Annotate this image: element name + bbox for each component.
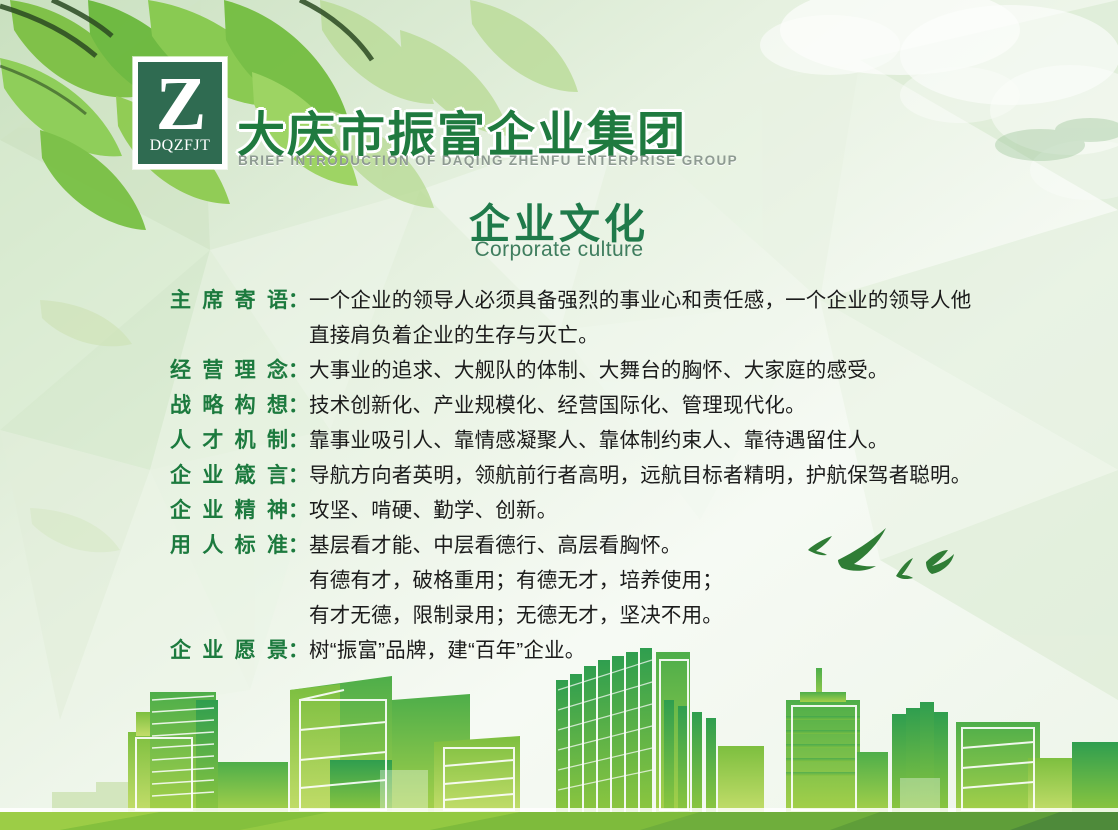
row-colon: ：: [288, 458, 309, 493]
culture-row: 战略构想 ： 技术创新化、产业规模化、经营国际化、管理现代化。: [170, 388, 1030, 423]
culture-row: 人才机制 ： 靠事业吸引人、靠情感凝聚人、靠体制约束人、靠待遇留住人。: [170, 423, 1030, 458]
row-label: 人才机制: [170, 423, 288, 458]
row-colon: ：: [288, 528, 309, 563]
row-line: 有才无德，限制录用；无德无才，坚决不用。: [309, 598, 1030, 633]
row-line: 基层看才能、中层看德行、高层看胸怀。: [309, 528, 1030, 563]
row-label: 企业精神: [170, 493, 288, 528]
row-label: 用人标准: [170, 528, 288, 563]
company-logo: Z DQZFJT: [133, 57, 227, 169]
culture-row: 企业箴言 ： 导航方向者英明，领航前行者高明，远航目标者精明，护航保驾者聪明。: [170, 458, 1030, 493]
row-line: 大事业的追求、大舰队的体制、大舞台的胸怀、大家庭的感受。: [309, 353, 1030, 388]
row-line: 攻坚、啃硬、勤学、创新。: [309, 493, 1030, 528]
culture-row: 企业愿景 ： 树“振富”品牌，建“百年”企业。: [170, 633, 1030, 668]
culture-row: 经营理念 ： 大事业的追求、大舰队的体制、大舞台的胸怀、大家庭的感受。: [170, 353, 1030, 388]
logo-letter-z: Z: [138, 68, 222, 140]
row-body: 靠事业吸引人、靠情感凝聚人、靠体制约束人、靠待遇留住人。: [309, 423, 1030, 458]
row-colon: ：: [288, 388, 309, 423]
logo-acronym: DQZFJT: [150, 137, 211, 164]
row-line: 树“振富”品牌，建“百年”企业。: [309, 633, 1030, 668]
logo-mark: Z DQZFJT: [138, 62, 222, 164]
page-title-en: Corporate culture: [0, 238, 1118, 262]
culture-row: 企业精神 ： 攻坚、啃硬、勤学、创新。: [170, 493, 1030, 528]
row-body: 基层看才能、中层看德行、高层看胸怀。 有德有才，破格重用；有德无才，培养使用； …: [309, 528, 1030, 633]
row-line: 导航方向者英明，领航前行者高明，远航目标者精明，护航保驾者聪明。: [309, 458, 1030, 493]
row-label: 企业箴言: [170, 458, 288, 493]
row-line: 直接肩负着企业的生存与灭亡。: [309, 318, 1030, 353]
row-body: 一个企业的领导人必须具备强烈的事业心和责任感，一个企业的领导人他 直接肩负着企业…: [309, 283, 1030, 353]
ground-band: [0, 812, 1118, 830]
row-colon: ：: [288, 633, 309, 668]
row-body: 大事业的追求、大舰队的体制、大舞台的胸怀、大家庭的感受。: [309, 353, 1030, 388]
culture-content: 主席寄语 ： 一个企业的领导人必须具备强烈的事业心和责任感，一个企业的领导人他 …: [170, 283, 1030, 668]
row-line: 靠事业吸引人、靠情感凝聚人、靠体制约束人、靠待遇留住人。: [309, 423, 1030, 458]
row-label: 主席寄语: [170, 283, 288, 318]
row-line: 技术创新化、产业规模化、经营国际化、管理现代化。: [309, 388, 1030, 423]
row-body: 攻坚、啃硬、勤学、创新。: [309, 493, 1030, 528]
row-body: 导航方向者英明，领航前行者高明，远航目标者精明，护航保驾者聪明。: [309, 458, 1030, 493]
culture-row: 主席寄语 ： 一个企业的领导人必须具备强烈的事业心和责任感，一个企业的领导人他 …: [170, 283, 1030, 353]
poster-header: Z DQZFJT 大庆市振富企业集团 BRIEF INTRODUCTION OF…: [0, 0, 1118, 185]
brand-name-en: BRIEF INTRODUCTION OF DAQING ZHENFU ENTE…: [238, 153, 738, 168]
row-colon: ：: [288, 353, 309, 388]
row-colon: ：: [288, 423, 309, 458]
row-body: 树“振富”品牌，建“百年”企业。: [309, 633, 1030, 668]
poster-canvas: Z DQZFJT 大庆市振富企业集团 BRIEF INTRODUCTION OF…: [0, 0, 1118, 830]
row-label: 企业愿景: [170, 633, 288, 668]
row-colon: ：: [288, 283, 309, 318]
culture-row: 用人标准 ： 基层看才能、中层看德行、高层看胸怀。 有德有才，破格重用；有德无才…: [170, 528, 1030, 633]
row-label: 经营理念: [170, 353, 288, 388]
row-body: 技术创新化、产业规模化、经营国际化、管理现代化。: [309, 388, 1030, 423]
row-line: 一个企业的领导人必须具备强烈的事业心和责任感，一个企业的领导人他: [309, 283, 1030, 318]
row-colon: ：: [288, 493, 309, 528]
row-label: 战略构想: [170, 388, 288, 423]
row-line: 有德有才，破格重用；有德无才，培养使用；: [309, 563, 1030, 598]
